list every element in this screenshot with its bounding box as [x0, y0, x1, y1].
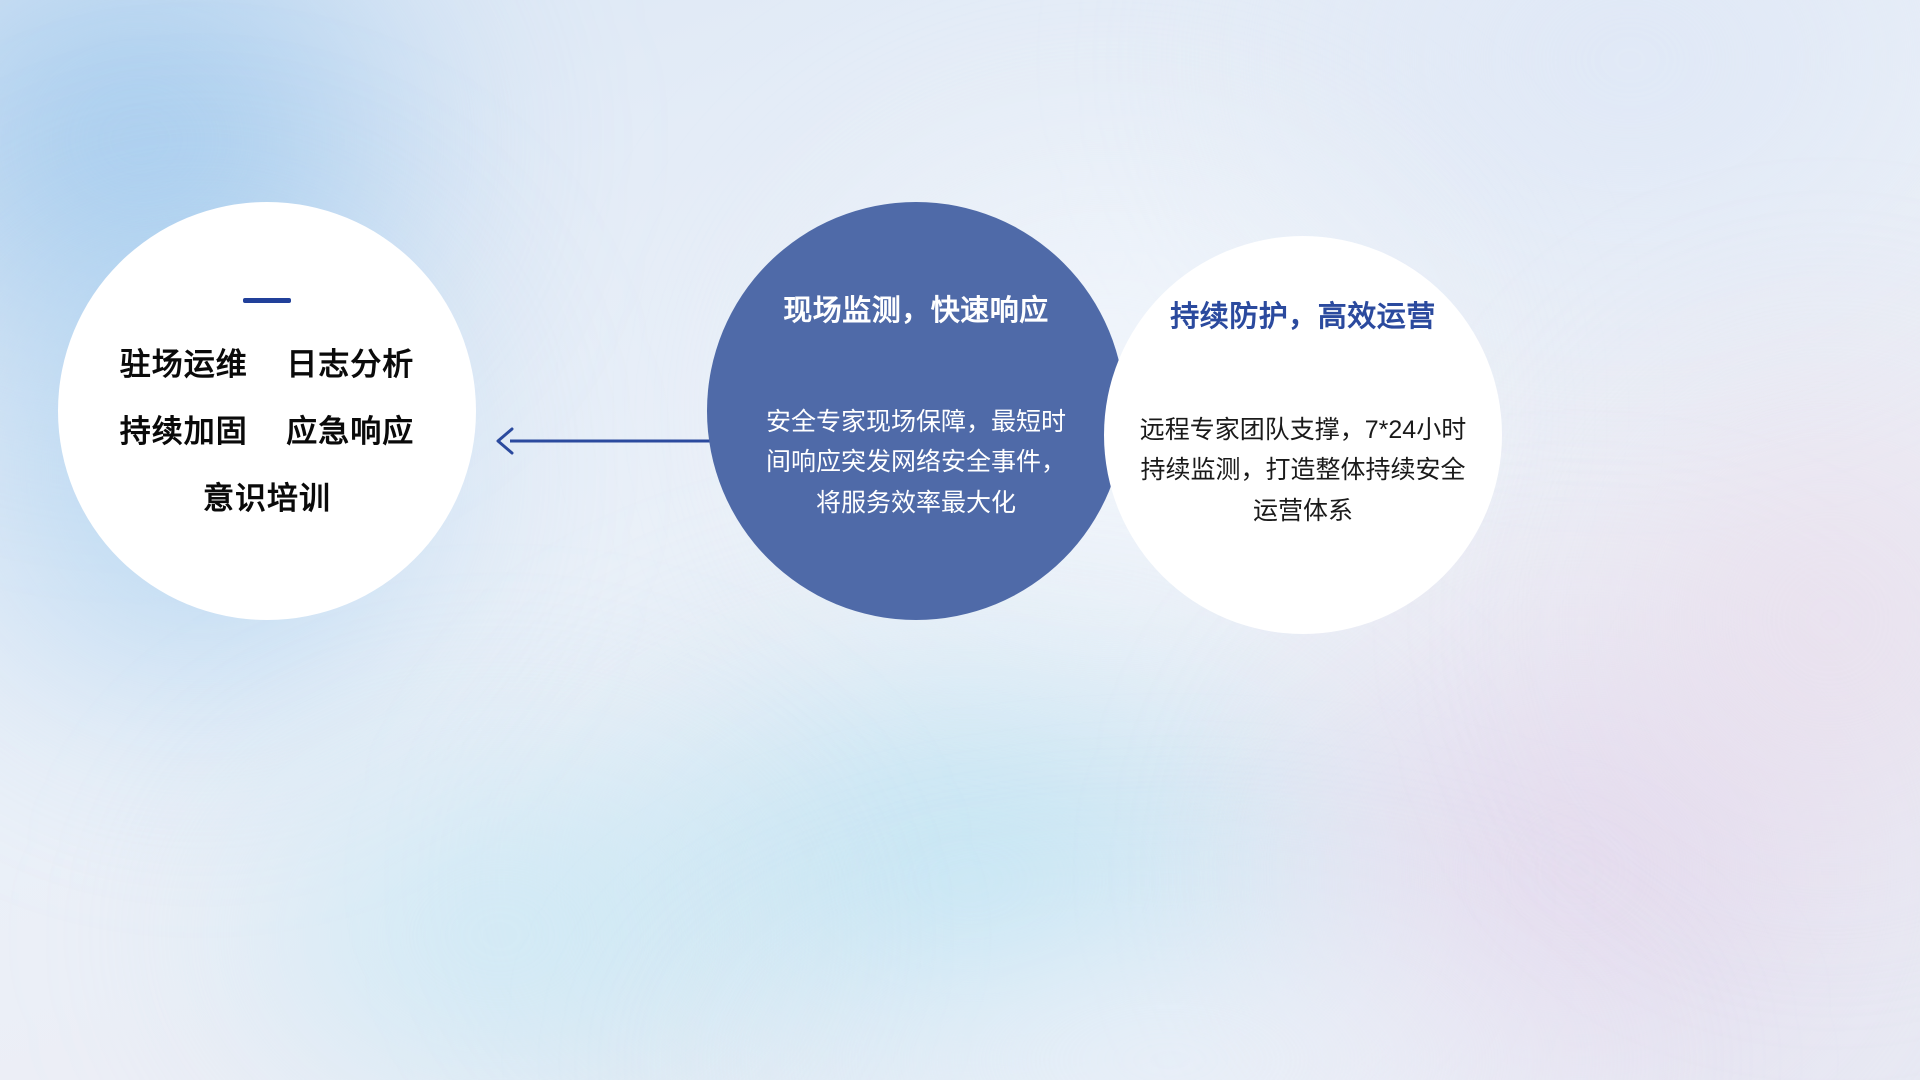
slide-canvas: 驻场运维 日志分析 持续加固 应急响应 意识培训 现场监测，快速响应 安全专家现…	[0, 0, 1920, 1080]
keyword-line-1: 驻场运维 日志分析	[58, 349, 476, 380]
continuous-protection-body: 远程专家团队支撑，7*24小时持续监测，打造整体持续安全运营体系	[1138, 410, 1468, 532]
service-capabilities-circle[interactable]: 驻场运维 日志分析 持续加固 应急响应 意识培训	[58, 202, 476, 620]
onsite-monitoring-circle[interactable]: 现场监测，快速响应 安全专家现场保障，最短时间响应突发网络安全事件，将服务效率最…	[707, 202, 1125, 620]
service-capabilities-content: 驻场运维 日志分析 持续加固 应急响应 意识培训	[58, 298, 476, 514]
accent-dash-divider	[243, 298, 291, 303]
continuous-protection-content: 持续防护，高效运营 远程专家团队支撑，7*24小时持续监测，打造整体持续安全运营…	[1104, 302, 1502, 531]
left-pointing-arrow	[480, 415, 720, 467]
onsite-monitoring-content: 现场监测，快速响应 安全专家现场保障，最短时间响应突发网络安全事件，将服务效率最…	[707, 296, 1125, 523]
keyword-line-3: 意识培训	[58, 483, 476, 514]
continuous-protection-title: 持续防护，高效运营	[1128, 302, 1478, 334]
arrow-head-icon	[498, 429, 512, 453]
continuous-protection-circle[interactable]: 持续防护，高效运营 远程专家团队支撑，7*24小时持续监测，打造整体持续安全运营…	[1104, 236, 1502, 634]
onsite-monitoring-body: 安全专家现场保障，最短时间响应突发网络安全事件，将服务效率最大化	[766, 402, 1066, 524]
onsite-monitoring-title: 现场监测，快速响应	[733, 296, 1099, 328]
keyword-line-2: 持续加固 应急响应	[58, 416, 476, 447]
